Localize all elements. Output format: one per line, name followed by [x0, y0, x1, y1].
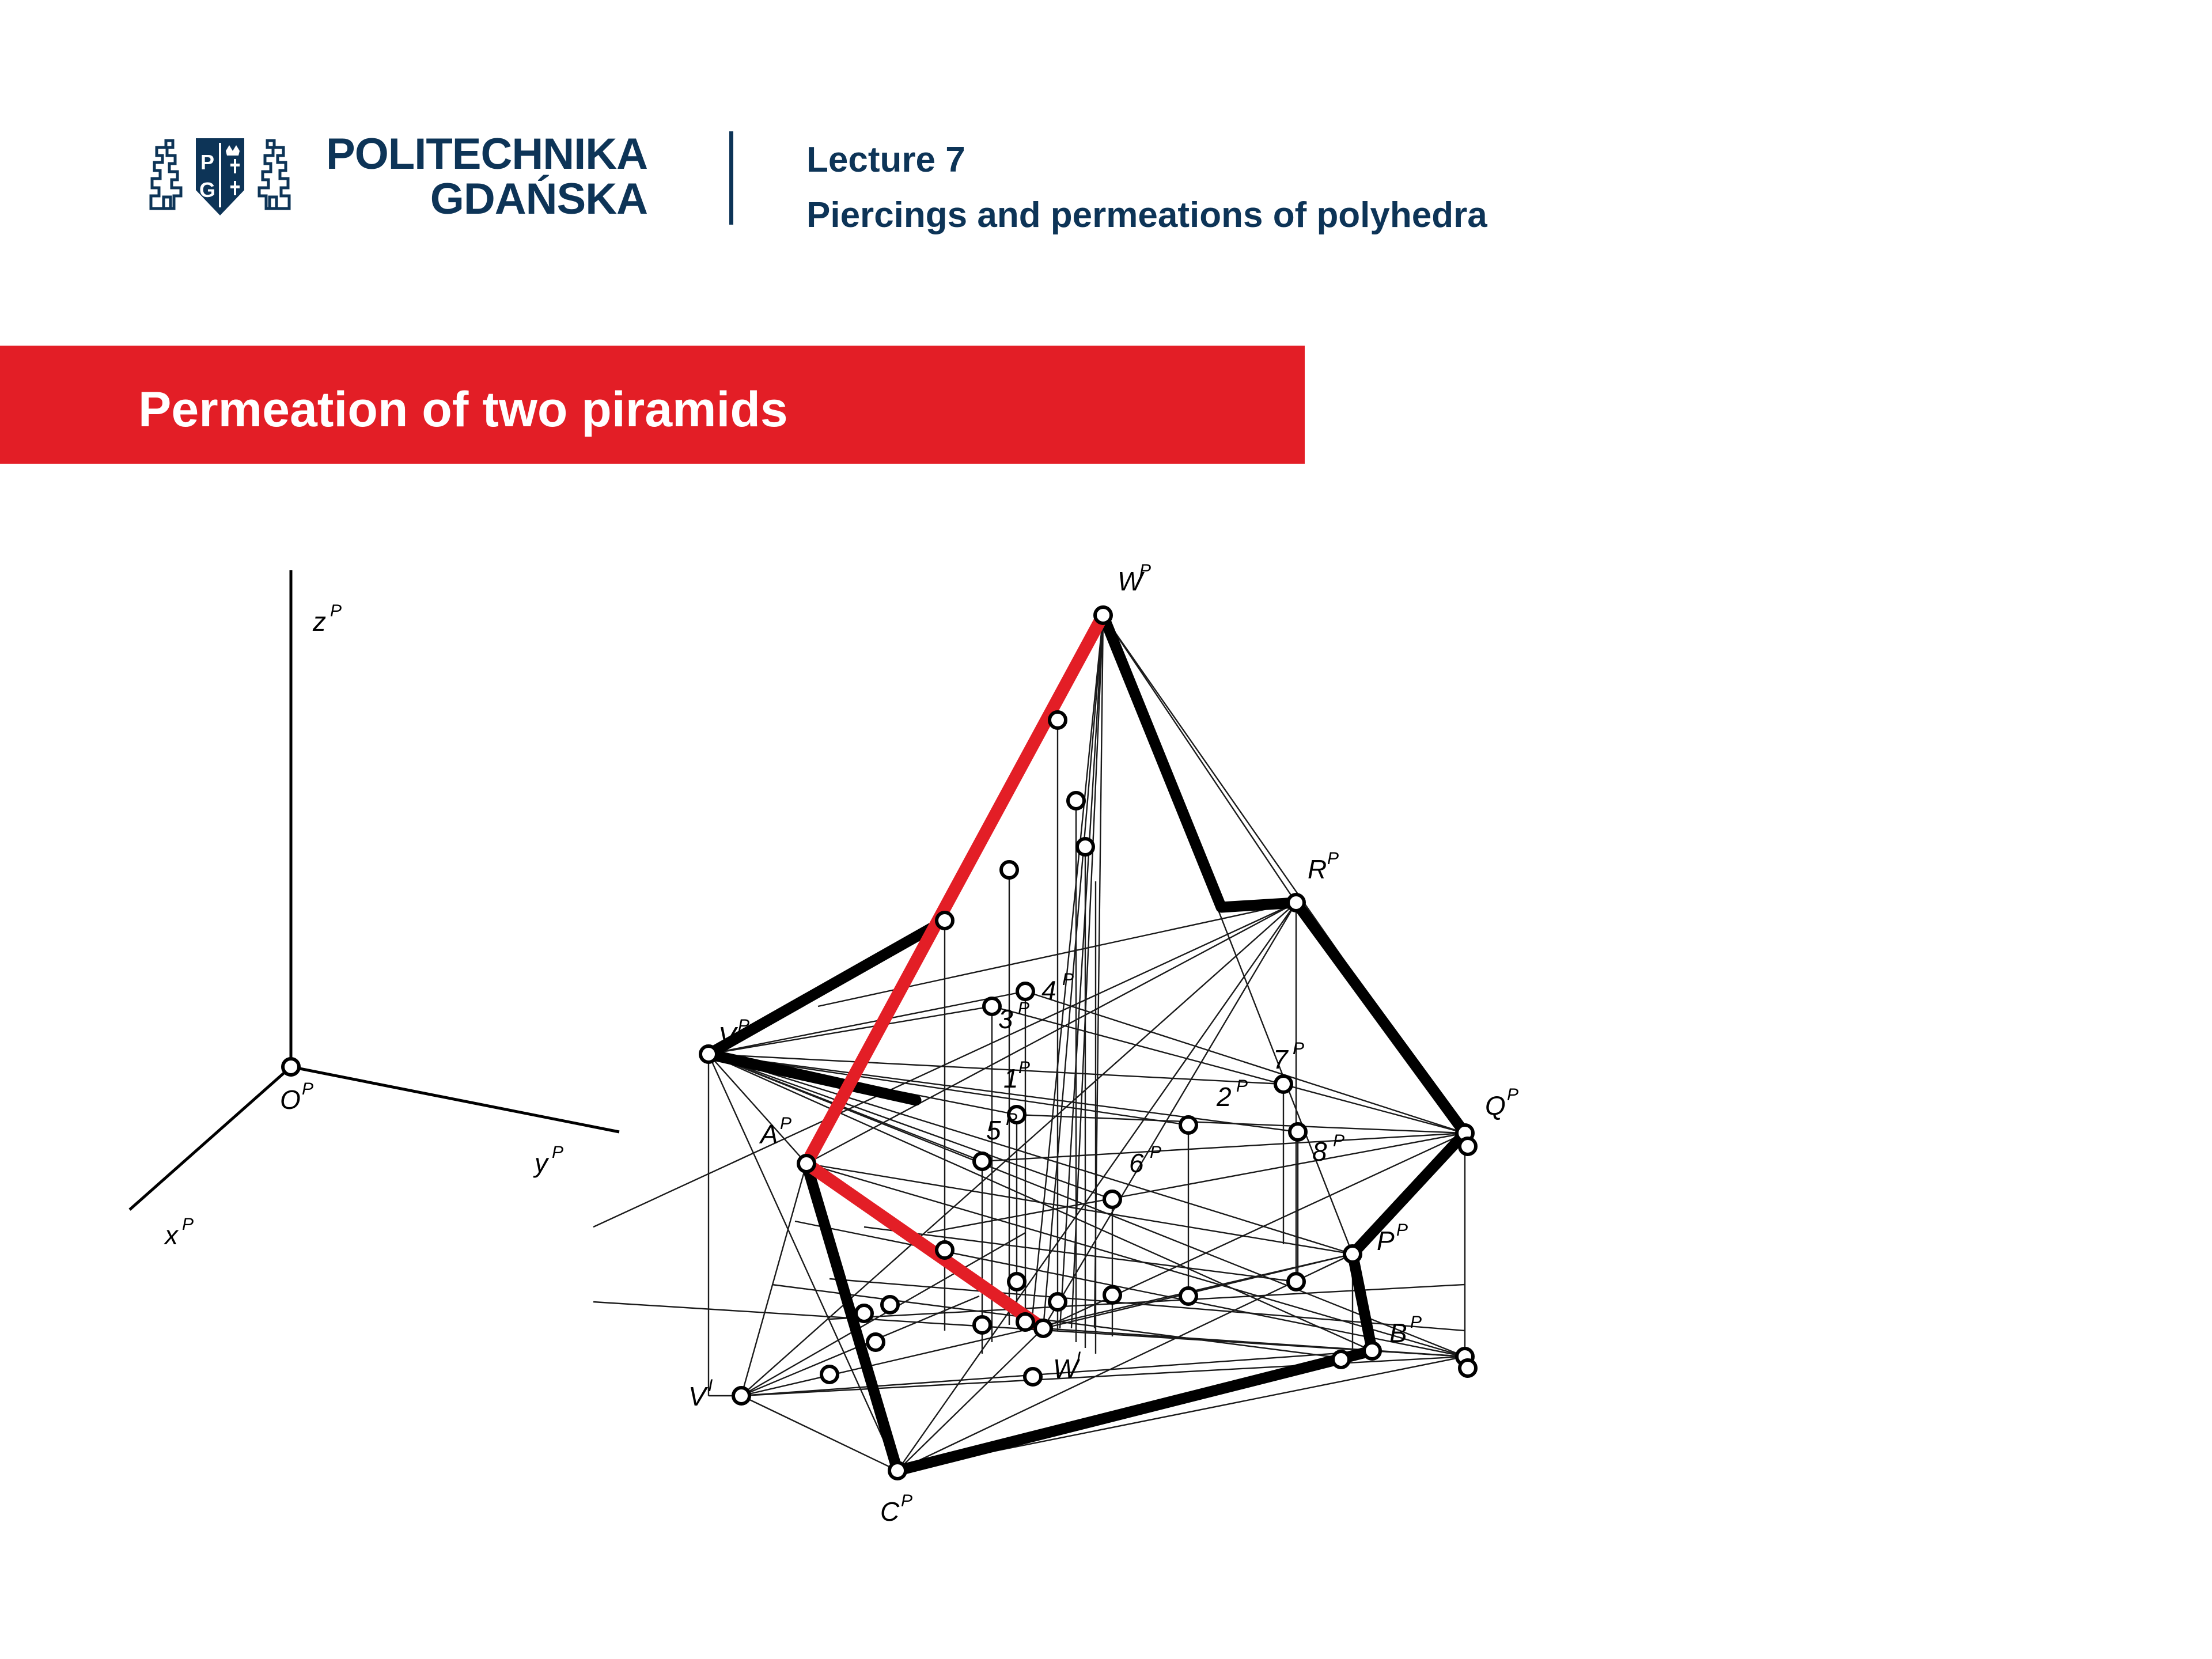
- label-point-8: 8: [1312, 1137, 1327, 1166]
- vertex-markers: [700, 607, 1476, 1479]
- label-point-1-sup: P: [1018, 1058, 1030, 1077]
- label-vertex-B-p: B: [1389, 1318, 1407, 1348]
- label-point-6: 6: [1129, 1148, 1144, 1178]
- label-point-6-sup: P: [1150, 1143, 1161, 1162]
- university-logo-block: P G POLITECHNIKA GDAŃSKA: [134, 128, 647, 226]
- label-origin: O: [280, 1085, 301, 1115]
- label-x-axis-sup: P: [182, 1215, 194, 1234]
- lecture-heading: Lecture 7 Piercings and permeations of p…: [806, 132, 1487, 243]
- label-vertex-W-prime-sup: I: [1076, 1349, 1081, 1368]
- label-point-5: 5: [986, 1115, 1001, 1145]
- label-vertex-R-p: R: [1308, 854, 1327, 884]
- university-name: POLITECHNIKA GDAŃSKA: [326, 132, 647, 221]
- label-vertex-Q-p: Q: [1485, 1090, 1506, 1120]
- figure-labels: z P O P x P y P W P R P V P Q P A P P P …: [164, 561, 1518, 1527]
- label-vertex-C-p: C: [880, 1497, 900, 1527]
- university-name-line1: POLITECHNIKA: [326, 132, 647, 177]
- label-vertex-P-p-sup: P: [1396, 1221, 1408, 1240]
- descriptive-geometry-figure: z P O P x P y P W P R P V P Q P A P P P …: [0, 478, 2212, 1659]
- university-name-line2: GDAŃSKA: [326, 177, 647, 222]
- svg-text:G: G: [199, 178, 215, 202]
- label-point-5-sup: P: [1006, 1110, 1017, 1129]
- header-divider: [729, 131, 733, 225]
- label-vertex-V-p: V: [718, 1021, 738, 1051]
- label-point-7: 7: [1273, 1044, 1289, 1074]
- solid-outline-edges: [709, 615, 1465, 1471]
- label-vertex-C-p-sup: P: [901, 1491, 912, 1510]
- label-point-2-sup: P: [1236, 1077, 1248, 1096]
- label-vertex-V-prime-sup: I: [708, 1376, 713, 1395]
- label-point-4-sup: P: [1062, 970, 1074, 989]
- label-vertex-R-p-sup: P: [1327, 849, 1339, 868]
- y-axis-line: [291, 1067, 619, 1132]
- label-point-4: 4: [1041, 975, 1056, 1005]
- slide-header: P G POLITECHNIKA GDAŃSKA Lecture 7 Pierc…: [0, 0, 2212, 300]
- label-vertex-W-p-sup: P: [1139, 561, 1151, 580]
- origin-point: [283, 1059, 299, 1075]
- label-vertex-V-prime: V: [688, 1381, 709, 1411]
- label-point-8-sup: P: [1333, 1131, 1344, 1150]
- pg-coat-of-arms-icon: P G: [134, 128, 306, 226]
- label-point-1: 1: [1003, 1063, 1018, 1093]
- lecture-title: Piercings and permeations of polyhedra: [806, 188, 1487, 243]
- label-vertex-A-p: A: [759, 1119, 778, 1149]
- label-vertex-P-p: P: [1377, 1226, 1395, 1256]
- label-z-axis: z: [312, 607, 326, 637]
- label-vertex-B-p-sup: P: [1410, 1313, 1422, 1332]
- label-point-3: 3: [998, 1004, 1013, 1034]
- lecture-number: Lecture 7: [806, 132, 1487, 188]
- label-point-3-sup: P: [1018, 999, 1029, 1018]
- label-point-2: 2: [1216, 1082, 1232, 1112]
- label-vertex-Q-p-sup: P: [1507, 1085, 1518, 1104]
- coordinate-axes: [130, 570, 619, 1210]
- label-point-7-sup: P: [1293, 1039, 1304, 1058]
- label-vertex-A-p-sup: P: [780, 1114, 791, 1133]
- label-origin-sup: P: [302, 1080, 313, 1099]
- label-x-axis: x: [164, 1220, 179, 1250]
- svg-text:P: P: [200, 150, 214, 174]
- label-z-axis-sup: P: [330, 601, 342, 620]
- label-vertex-V-p-sup: P: [738, 1016, 749, 1035]
- label-y-axis: y: [533, 1148, 550, 1178]
- x-axis-line: [130, 1067, 291, 1210]
- label-y-axis-sup: P: [552, 1143, 563, 1162]
- section-title: Permeation of two piramids: [138, 381, 788, 438]
